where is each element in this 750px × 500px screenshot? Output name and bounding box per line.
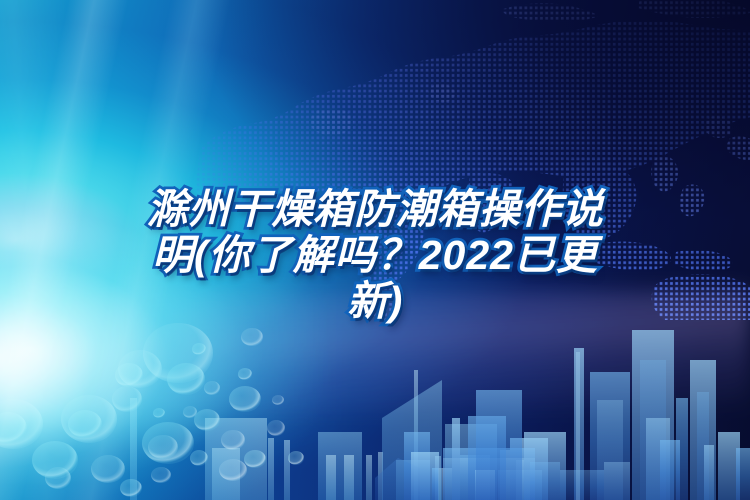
headline-line-2: 明(你了解吗？2022已更 <box>28 232 722 278</box>
headline-line-1: 滁州干燥箱防潮箱操作说 <box>28 186 722 232</box>
poster-banner: 滁州干燥箱防潮箱操作说 明(你了解吗？2022已更 新) <box>0 0 750 500</box>
poster-headline: 滁州干燥箱防潮箱操作说 明(你了解吗？2022已更 新) <box>0 186 750 324</box>
headline-line-3: 新) <box>28 278 722 324</box>
